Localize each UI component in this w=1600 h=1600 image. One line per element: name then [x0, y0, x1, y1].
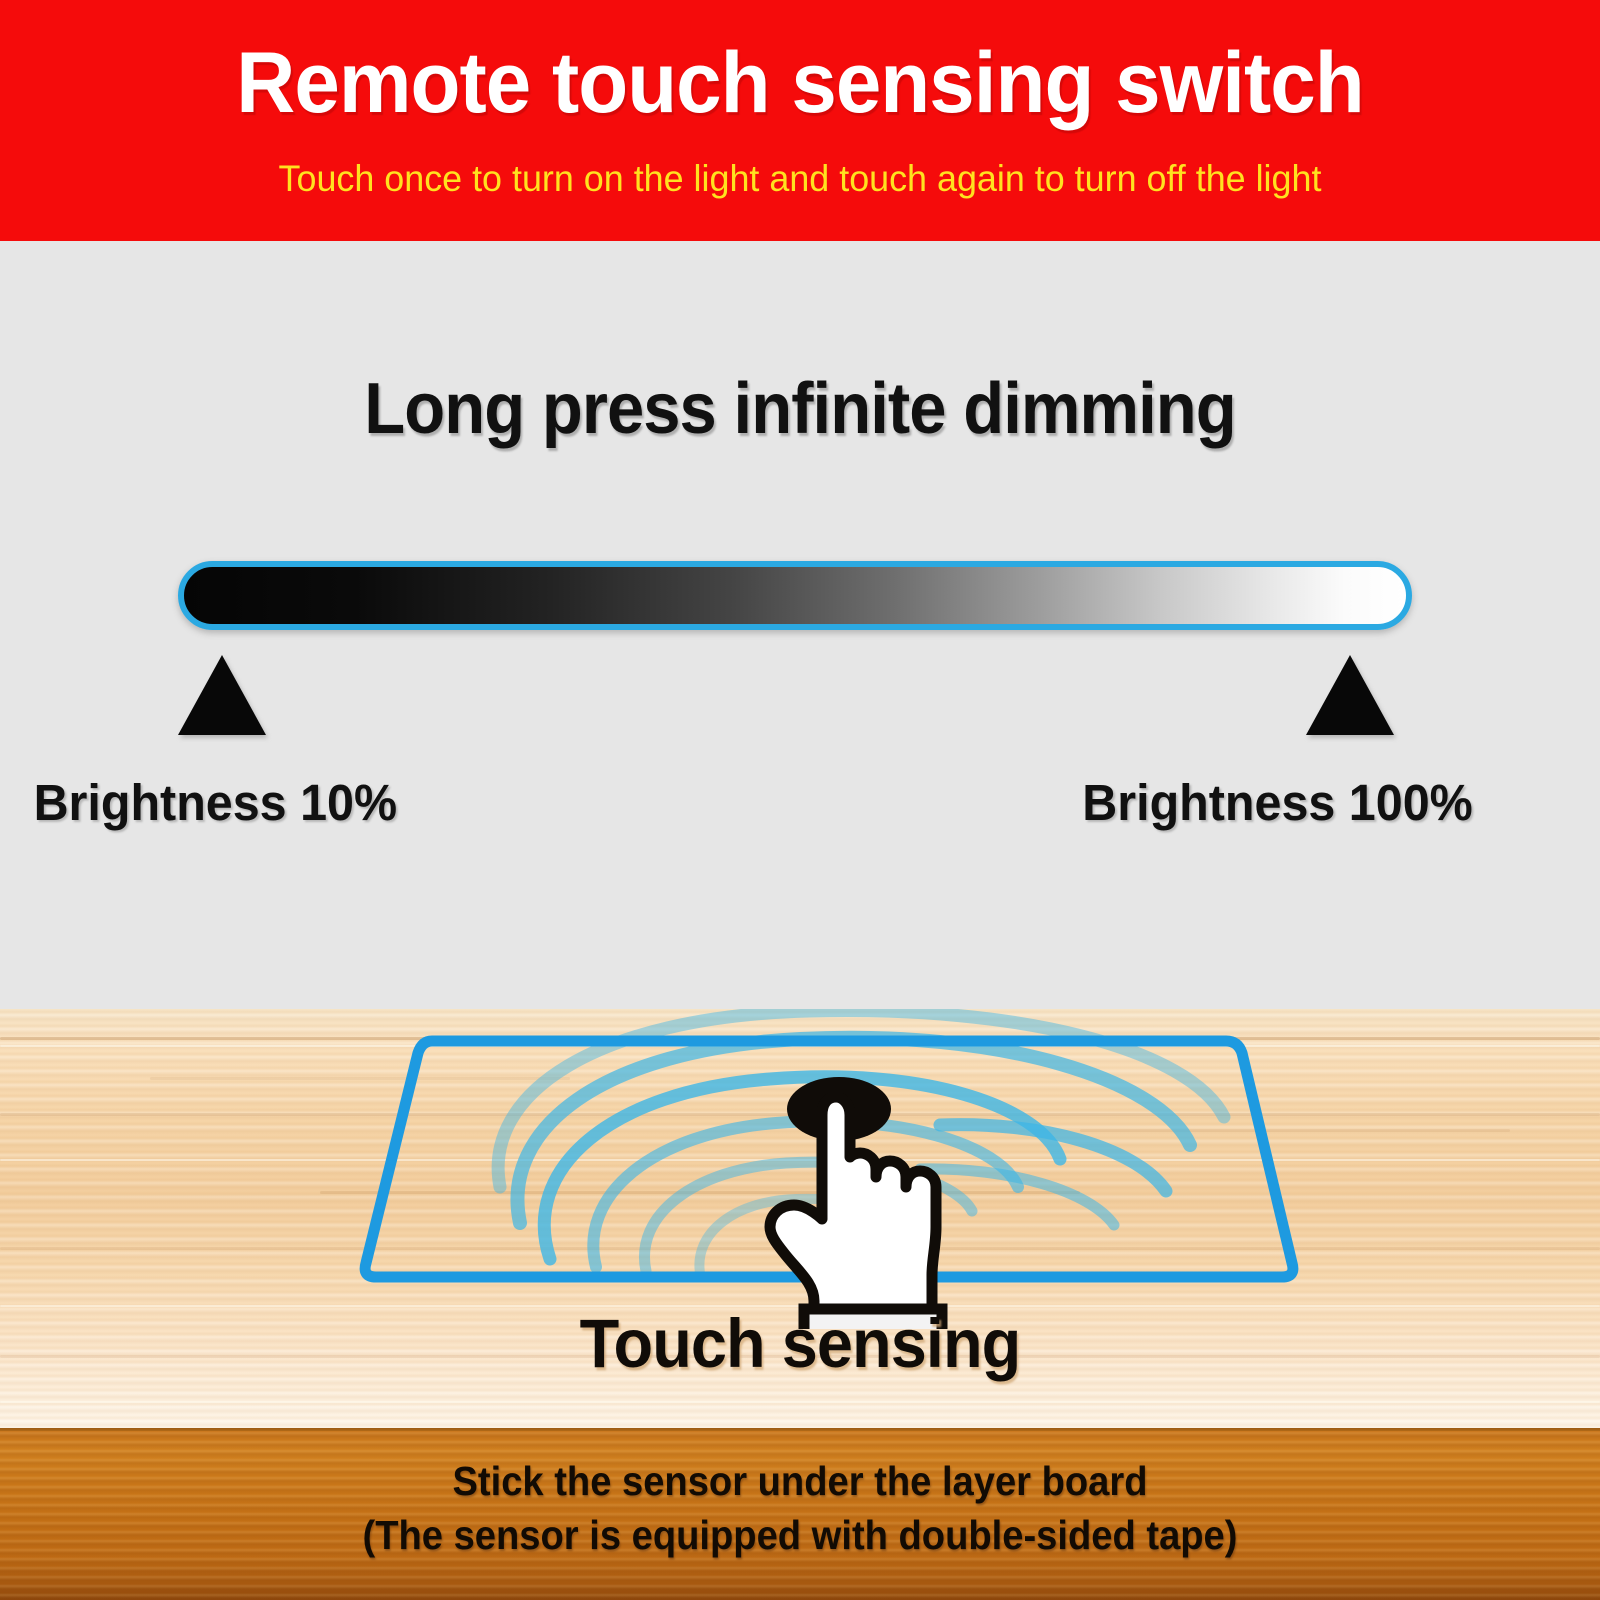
sensor-note-line-2: (The sensor is equipped with double-side… — [56, 1515, 1544, 1556]
pointing-hand-icon — [736, 1069, 966, 1329]
page-subtitle: Touch once to turn on the light and touc… — [24, 160, 1576, 197]
brightness-min-label: Brightness 10% — [34, 777, 397, 828]
triangle-up-icon-max — [1306, 655, 1394, 735]
touch-sensing-caption: Touch sensing — [48, 1309, 1552, 1378]
product-infographic: Remote touch sensing switch Touch once t… — [0, 0, 1600, 1600]
brightness-gradient-slider[interactable] — [178, 561, 1412, 630]
dimming-heading: Long press infinite dimming — [56, 373, 1544, 445]
page-title: Remote touch sensing switch — [40, 40, 1560, 126]
sensor-note-line-1: Stick the sensor under the layer board — [56, 1461, 1544, 1502]
brightness-max-label: Brightness 100% — [1082, 777, 1472, 828]
dimming-section: Long press infinite dimming Brightness 1… — [0, 241, 1600, 1009]
header-banner: Remote touch sensing switch Touch once t… — [0, 0, 1600, 241]
touch-sensing-section: Touch sensing Stick the sensor under the… — [0, 1009, 1600, 1600]
triangle-up-icon-min — [178, 655, 266, 735]
